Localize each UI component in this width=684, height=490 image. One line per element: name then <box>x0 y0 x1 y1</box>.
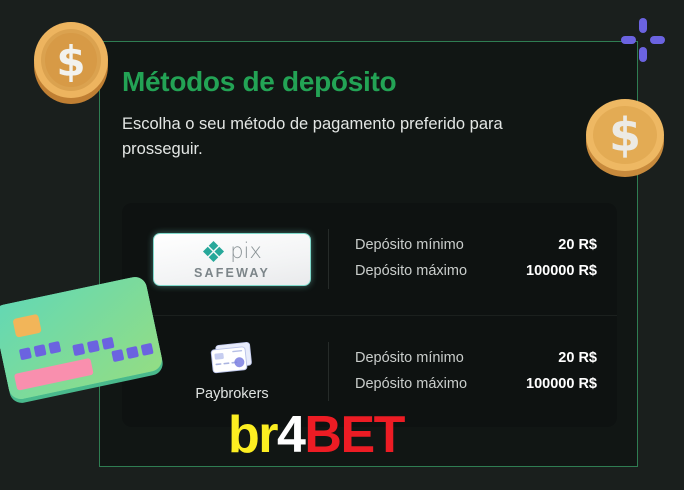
plus-cursor-icon[interactable] <box>620 17 666 63</box>
deposit-max-line: Depósito máximo 100000 R$ <box>355 372 597 398</box>
deposit-max-value: 100000 R$ <box>526 259 597 285</box>
paybrokers-logo-cell[interactable]: Paybrokers <box>136 341 328 402</box>
deposit-min-line: Depósito mínimo 20 R$ <box>355 346 597 372</box>
deposit-min-label: Depósito mínimo <box>355 346 464 372</box>
payment-method-row-paybrokers[interactable]: Paybrokers Depósito mínimo 20 R$ Depósit… <box>122 315 617 427</box>
pix-safeway-badge[interactable]: pix SAFEWAY <box>153 233 311 286</box>
deposit-max-line: Depósito máximo 100000 R$ <box>355 259 597 285</box>
pix-safeway-text: SAFEWAY <box>194 266 270 280</box>
deposit-min-value: 20 R$ <box>558 233 597 259</box>
paybrokers-logo[interactable]: Paybrokers <box>195 341 268 402</box>
pix-wordmark: pix <box>202 240 262 263</box>
paybrokers-deposit-info: Depósito mínimo 20 R$ Depósito máximo 10… <box>329 346 613 398</box>
page-subtitle: Escolha o seu método de pagamento prefer… <box>122 112 572 162</box>
pix-deposit-info: Depósito mínimo 20 R$ Depósito máximo 10… <box>329 233 613 285</box>
paybrokers-label: Paybrokers <box>195 386 268 402</box>
pix-logo-cell[interactable]: pix SAFEWAY <box>136 233 328 286</box>
credit-card-icon <box>209 341 255 377</box>
deposit-methods-panel: Métodos de depósito Escolha o seu método… <box>99 41 638 467</box>
deposit-max-label: Depósito máximo <box>355 259 467 285</box>
deposit-min-value: 20 R$ <box>558 346 597 372</box>
deposit-min-line: Depósito mínimo 20 R$ <box>355 233 597 259</box>
deposit-max-value: 100000 R$ <box>526 372 597 398</box>
deposit-max-label: Depósito máximo <box>355 372 467 398</box>
panel-inner-content: Métodos de depósito Escolha o seu método… <box>100 42 637 466</box>
pix-wordmark-text: pix <box>230 241 262 262</box>
deposit-min-label: Depósito mínimo <box>355 233 464 259</box>
payment-method-row-pix[interactable]: pix SAFEWAY Depósito mínimo 20 R$ Depósi… <box>122 203 617 315</box>
page-title: Métodos de depósito <box>122 66 615 98</box>
pix-logo-icon <box>202 240 225 263</box>
payment-methods-list: pix SAFEWAY Depósito mínimo 20 R$ Depósi… <box>122 203 617 427</box>
svg-text:$: $ <box>56 37 85 86</box>
